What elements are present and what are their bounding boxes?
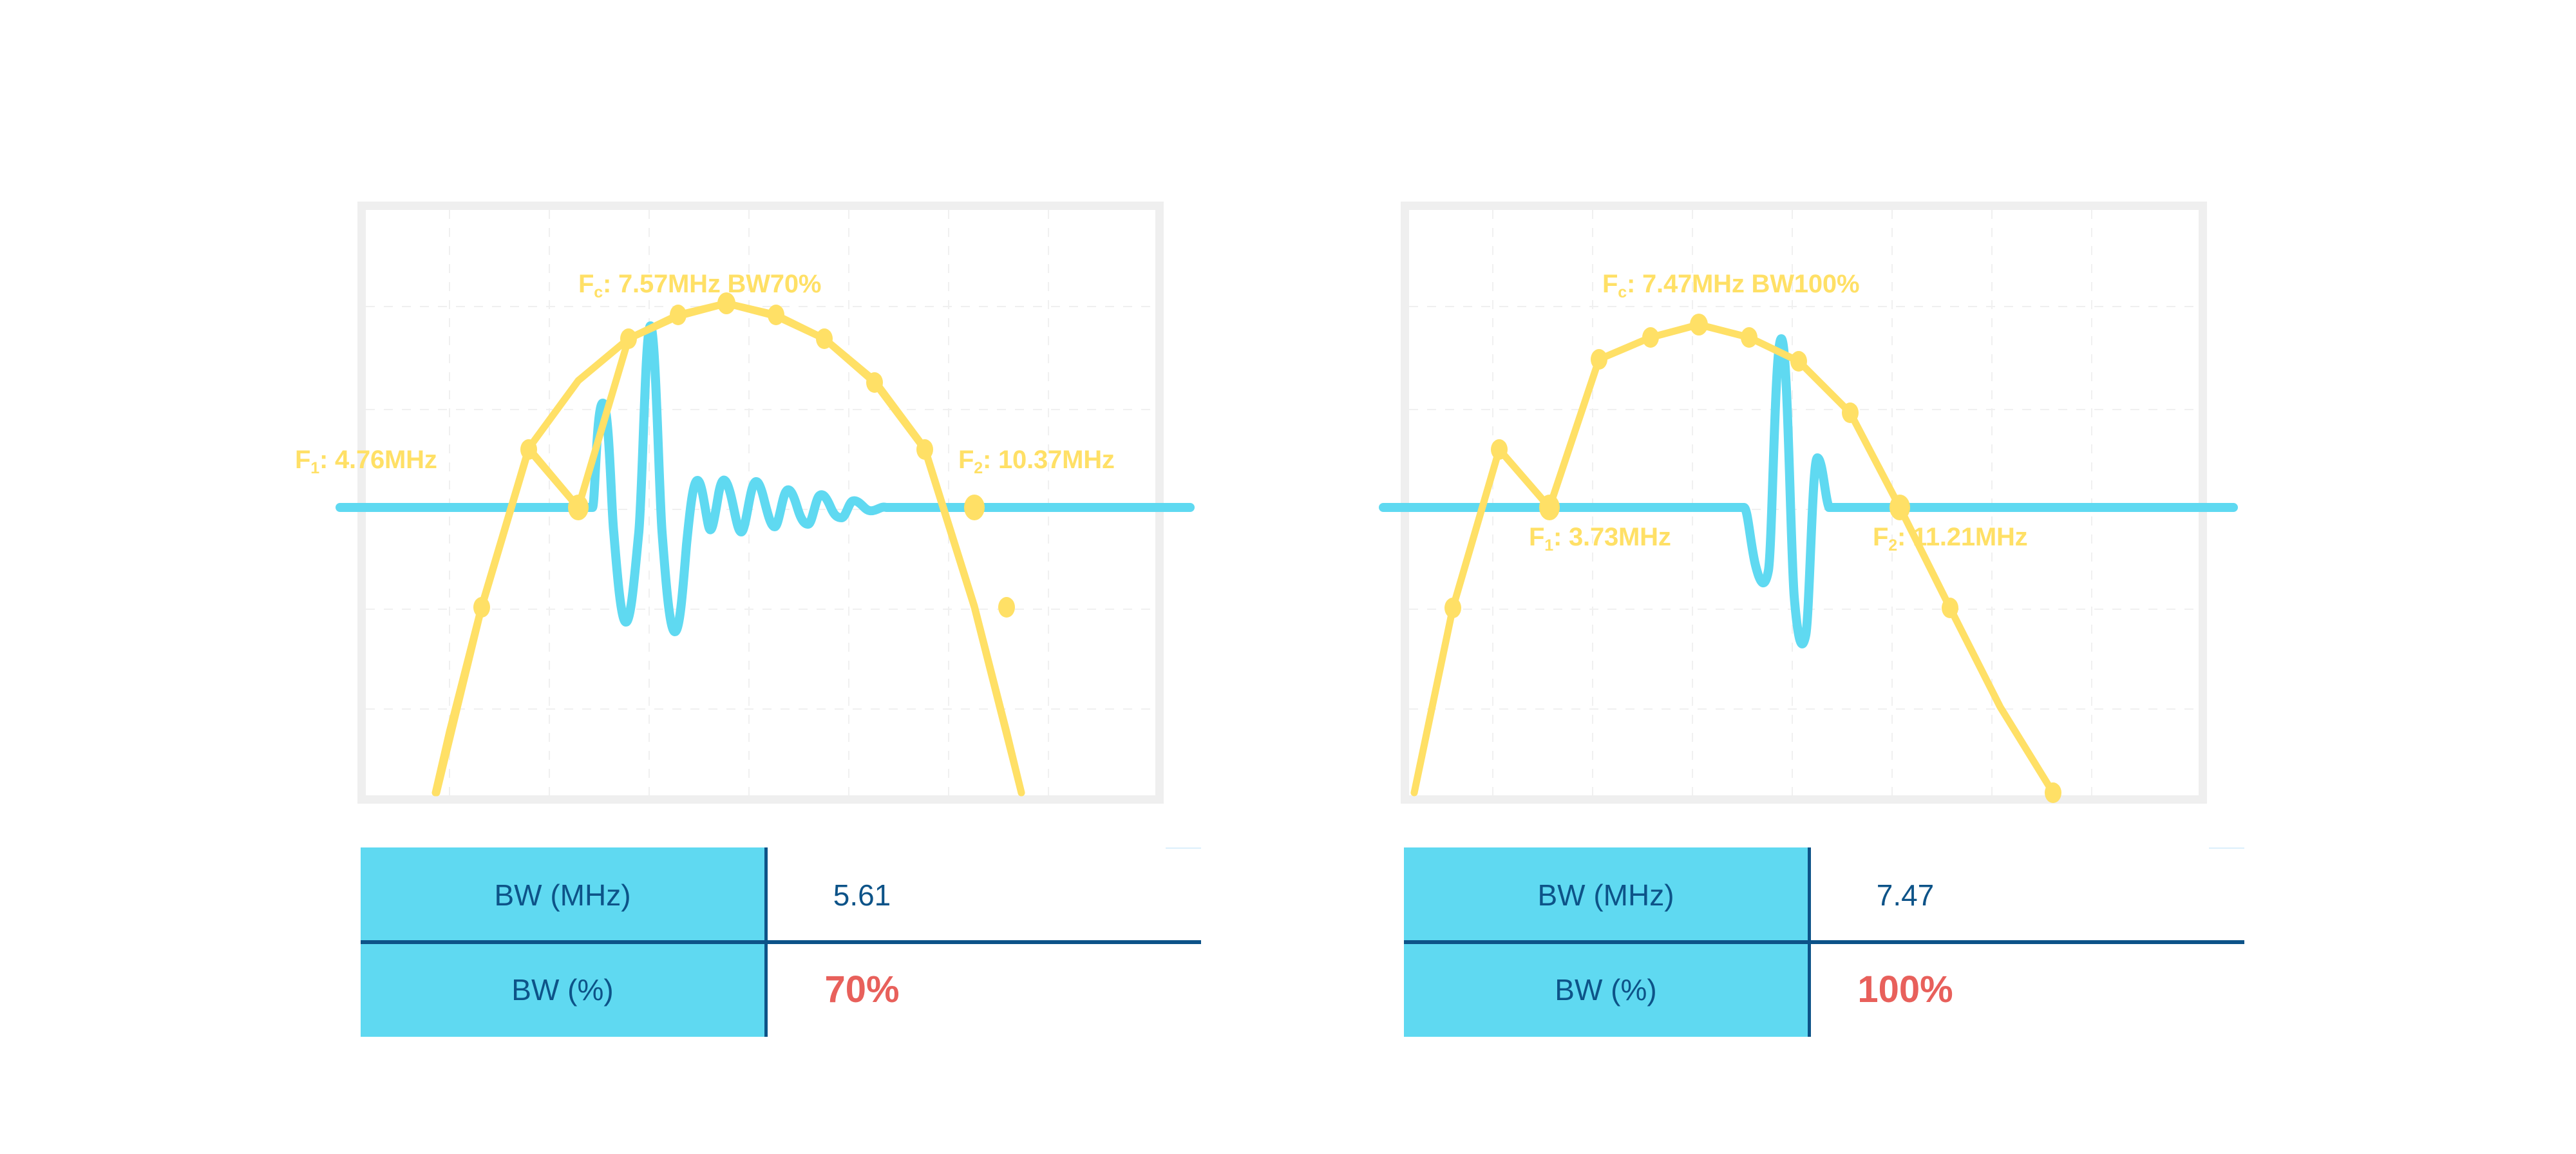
annot-f2-prefix: F: [1873, 523, 1888, 551]
bw-mhz-value: 7.47: [1877, 878, 1935, 913]
bw-pct-label-cell: BW (%): [361, 942, 764, 1037]
spectrum-path-left: [437, 303, 1021, 793]
bw-pct-value: 100%: [1857, 968, 1953, 1011]
annotation-f2-right: F2: 11.21MHz: [1873, 524, 2028, 550]
pulse-waveform-right: [1383, 339, 2233, 644]
annotation-center-frequency-right: Fc: 7.47MHz BW100%: [1602, 271, 1859, 297]
spectrum-markers-left: [473, 292, 1015, 618]
bw-pct-value: 70%: [824, 968, 899, 1011]
spectrum-path-right: [1414, 325, 2053, 793]
annot-fc-prefix: F: [1602, 270, 1618, 298]
bandwidth-table-right: BW (MHz) 7.47 BW (%) 100%: [1404, 847, 2209, 1037]
annotation-center-frequency-left: Fc: 7.57MHz BW70%: [578, 271, 821, 297]
annotation-f1-left: F1: 4.76MHz: [295, 447, 437, 473]
annot-fc-sub: c: [1618, 283, 1627, 301]
annot-f1-prefix: F: [295, 446, 310, 474]
annot-fc-prefix: F: [578, 270, 594, 298]
bw-pct-value-cell: 100%: [1808, 942, 2209, 1037]
annot-f1-text: : 3.73MHz: [1553, 523, 1671, 551]
annot-f2-text: : 11.21MHz: [1897, 523, 2028, 551]
annot-f2-prefix: F: [958, 446, 974, 474]
bw-mhz-value-cell: 7.47: [1808, 847, 2209, 942]
annot-f1-sub: 1: [310, 459, 319, 477]
bw-mhz-label: BW (MHz): [494, 878, 630, 913]
annot-fc-text: : 7.47MHz BW100%: [1627, 270, 1859, 298]
table-row: BW (%) 100%: [1404, 942, 2209, 1037]
bw-mhz-value: 5.61: [833, 878, 891, 913]
annot-f2-sub: 2: [1888, 536, 1897, 554]
bw-pct-label-cell: BW (%): [1404, 942, 1808, 1037]
table-row: BW (MHz) 7.47: [1404, 847, 2209, 942]
annot-f1-prefix: F: [1529, 523, 1544, 551]
panel-right: Fc: 7.47MHz BW100% F1: 3.73MHz F2: 11.21…: [1043, 0, 2331, 1154]
spectrum-curve-left: [435, 303, 1021, 793]
annot-f2-sub: 2: [974, 459, 983, 477]
table-row-divider-right: [1404, 940, 2244, 944]
annot-fc-text: : 7.57MHz BW70%: [603, 270, 821, 298]
annotation-f1-right: F1: 3.73MHz: [1529, 524, 1671, 550]
annot-fc-sub: c: [594, 283, 603, 301]
bw-pct-label: BW (%): [1555, 972, 1656, 1007]
bw-mhz-label-cell: BW (MHz): [361, 847, 764, 942]
bw-mhz-label-cell: BW (MHz): [1404, 847, 1808, 942]
bw-mhz-label: BW (MHz): [1537, 878, 1674, 913]
annot-f1-text: : 4.76MHz: [319, 446, 437, 474]
chart-frame-right: Fc: 7.47MHz BW100% F1: 3.73MHz F2: 11.21…: [1401, 202, 2207, 804]
bw-pct-label: BW (%): [511, 972, 613, 1007]
annot-f1-sub: 1: [1544, 536, 1553, 554]
